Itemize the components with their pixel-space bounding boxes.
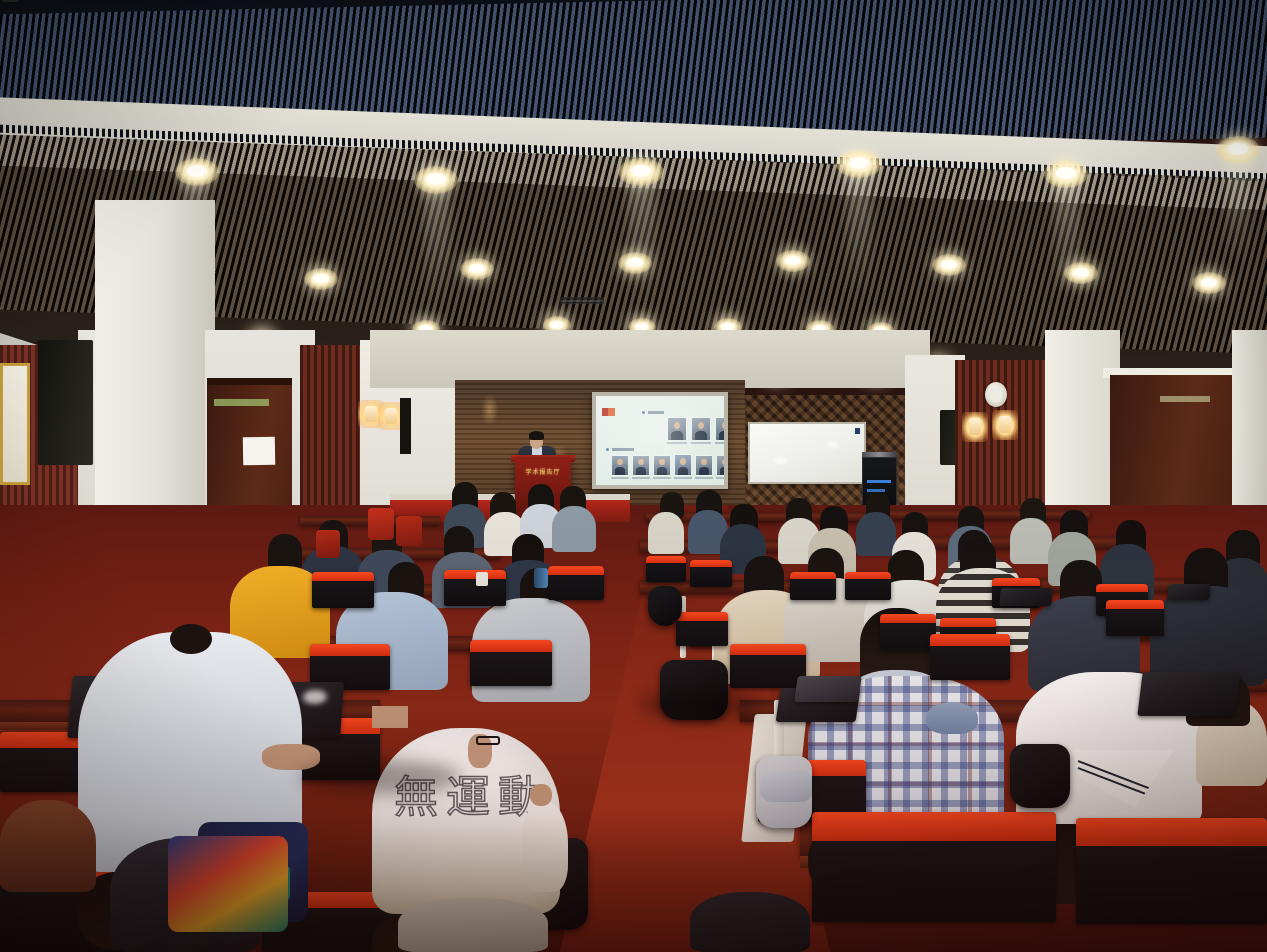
tablet-device[interactable]: [794, 676, 862, 702]
lecture-hall-photo: 学术报告厅 校: [0, 0, 1267, 952]
attendee-head: [268, 534, 302, 570]
tablet-device[interactable]: [1167, 584, 1211, 600]
wall-sconce-right-a: [969, 418, 981, 435]
exit-sign-glow-left: [214, 399, 269, 406]
lecture-seat[interactable]: [790, 572, 836, 600]
tablet-device[interactable]: [1137, 672, 1240, 716]
lecture-seat[interactable]: [730, 644, 806, 688]
light-beam: [846, 160, 872, 300]
presenter-hair: [529, 431, 544, 440]
lecture-seat[interactable]: [845, 572, 891, 600]
lecture-seat[interactable]: [548, 566, 604, 600]
ceiling-downlight-core: [1201, 278, 1217, 287]
ceiling-downlight-core: [941, 260, 957, 269]
ceiling-downlight-core: [1228, 143, 1248, 155]
lecture-seat[interactable]: [676, 612, 728, 646]
whiteboard-marker-holder: [855, 428, 860, 434]
screen-light-glow: [596, 396, 724, 485]
framed-certificate: [0, 363, 30, 485]
projection-screen: [592, 392, 728, 489]
ceiling-downlight-core: [785, 256, 801, 265]
thermos-cap: [1, 0, 19, 2]
sneaker: [760, 770, 812, 802]
paper-cup: [476, 572, 488, 586]
lecture-seat[interactable]: [312, 572, 374, 608]
attendee-torso: [648, 512, 684, 554]
lecture-seat[interactable]: [1106, 600, 1164, 636]
attendee-arm: [262, 744, 320, 770]
backpack-on-floor: [648, 586, 682, 626]
hero-arm: [522, 802, 568, 892]
whiteboard-glare: [828, 442, 838, 447]
presentation-slide: [596, 396, 724, 485]
ceiling-downlight-core: [631, 165, 651, 177]
ceiling-downlight-core: [426, 173, 446, 185]
ceiling-downlight-core: [313, 274, 329, 283]
attendee-torso: [856, 512, 896, 556]
ceiling-downlight-core: [187, 165, 207, 177]
red-chair[interactable]: [316, 530, 340, 558]
lecture-seat[interactable]: [930, 634, 1010, 680]
certificate-paper: [3, 366, 27, 482]
floor-shadow: [300, 760, 460, 794]
ceiling-downlight-core: [469, 264, 485, 273]
light-beam: [628, 168, 656, 308]
whiteboard-glare: [774, 458, 786, 463]
attendee-torso: [1150, 586, 1267, 686]
wall-speaker-left: [38, 340, 93, 465]
lecture-seat[interactable]: [470, 640, 552, 686]
red-chair[interactable]: [368, 508, 394, 540]
rack-led: [867, 480, 891, 483]
patterned-bag: [168, 836, 288, 932]
lecture-seat[interactable]: [1076, 818, 1267, 924]
attendee-partial: [690, 892, 810, 952]
lecture-seat[interactable]: [444, 570, 506, 606]
backpack-on-floor: [1010, 744, 1070, 808]
lecture-seat[interactable]: [690, 560, 732, 587]
ceiling-downlight-core: [849, 157, 869, 169]
lecture-seat[interactable]: [646, 556, 686, 582]
ceiling-downlight-core: [550, 321, 563, 329]
floor-shadow: [640, 690, 760, 720]
ceiling-downlight-core: [1056, 167, 1076, 179]
ceiling-downlight-core: [627, 258, 643, 267]
podium-banner-text: 学术报告厅: [515, 467, 571, 476]
tablet-device[interactable]: [999, 588, 1053, 606]
attendee-partial: [0, 800, 96, 892]
hero-neck: [372, 706, 408, 728]
hero-hand: [530, 784, 552, 806]
whiteboard: [748, 422, 866, 484]
tablet-glare: [302, 690, 327, 704]
lecture-seat[interactable]: [880, 614, 936, 650]
light-beam: [424, 176, 450, 311]
red-chair[interactable]: [396, 516, 422, 546]
exit-sign-glow-right: [1160, 396, 1210, 402]
glasses: [476, 736, 500, 745]
wall-sconce-right-b: [999, 416, 1011, 433]
wall-sconce-left-b: [385, 408, 397, 424]
clock-face: [989, 386, 1003, 403]
wall-clock: [985, 382, 1007, 407]
ceiling-downlight-core: [1073, 268, 1089, 277]
attendee-partial: [398, 898, 548, 952]
water-bottle: [534, 568, 548, 588]
wall-trim-dark-left: [400, 398, 411, 454]
blue-cap: [926, 702, 978, 734]
wall-sconce-left-a: [365, 406, 377, 422]
lecture-seat[interactable]: [812, 812, 1056, 922]
light-beam: [1226, 146, 1250, 266]
hair-bun: [170, 624, 212, 654]
attendee-torso: [1010, 518, 1052, 564]
ac-vent: [560, 297, 604, 304]
door-paper-sign: [243, 437, 275, 466]
attendee-torso: [552, 506, 596, 552]
